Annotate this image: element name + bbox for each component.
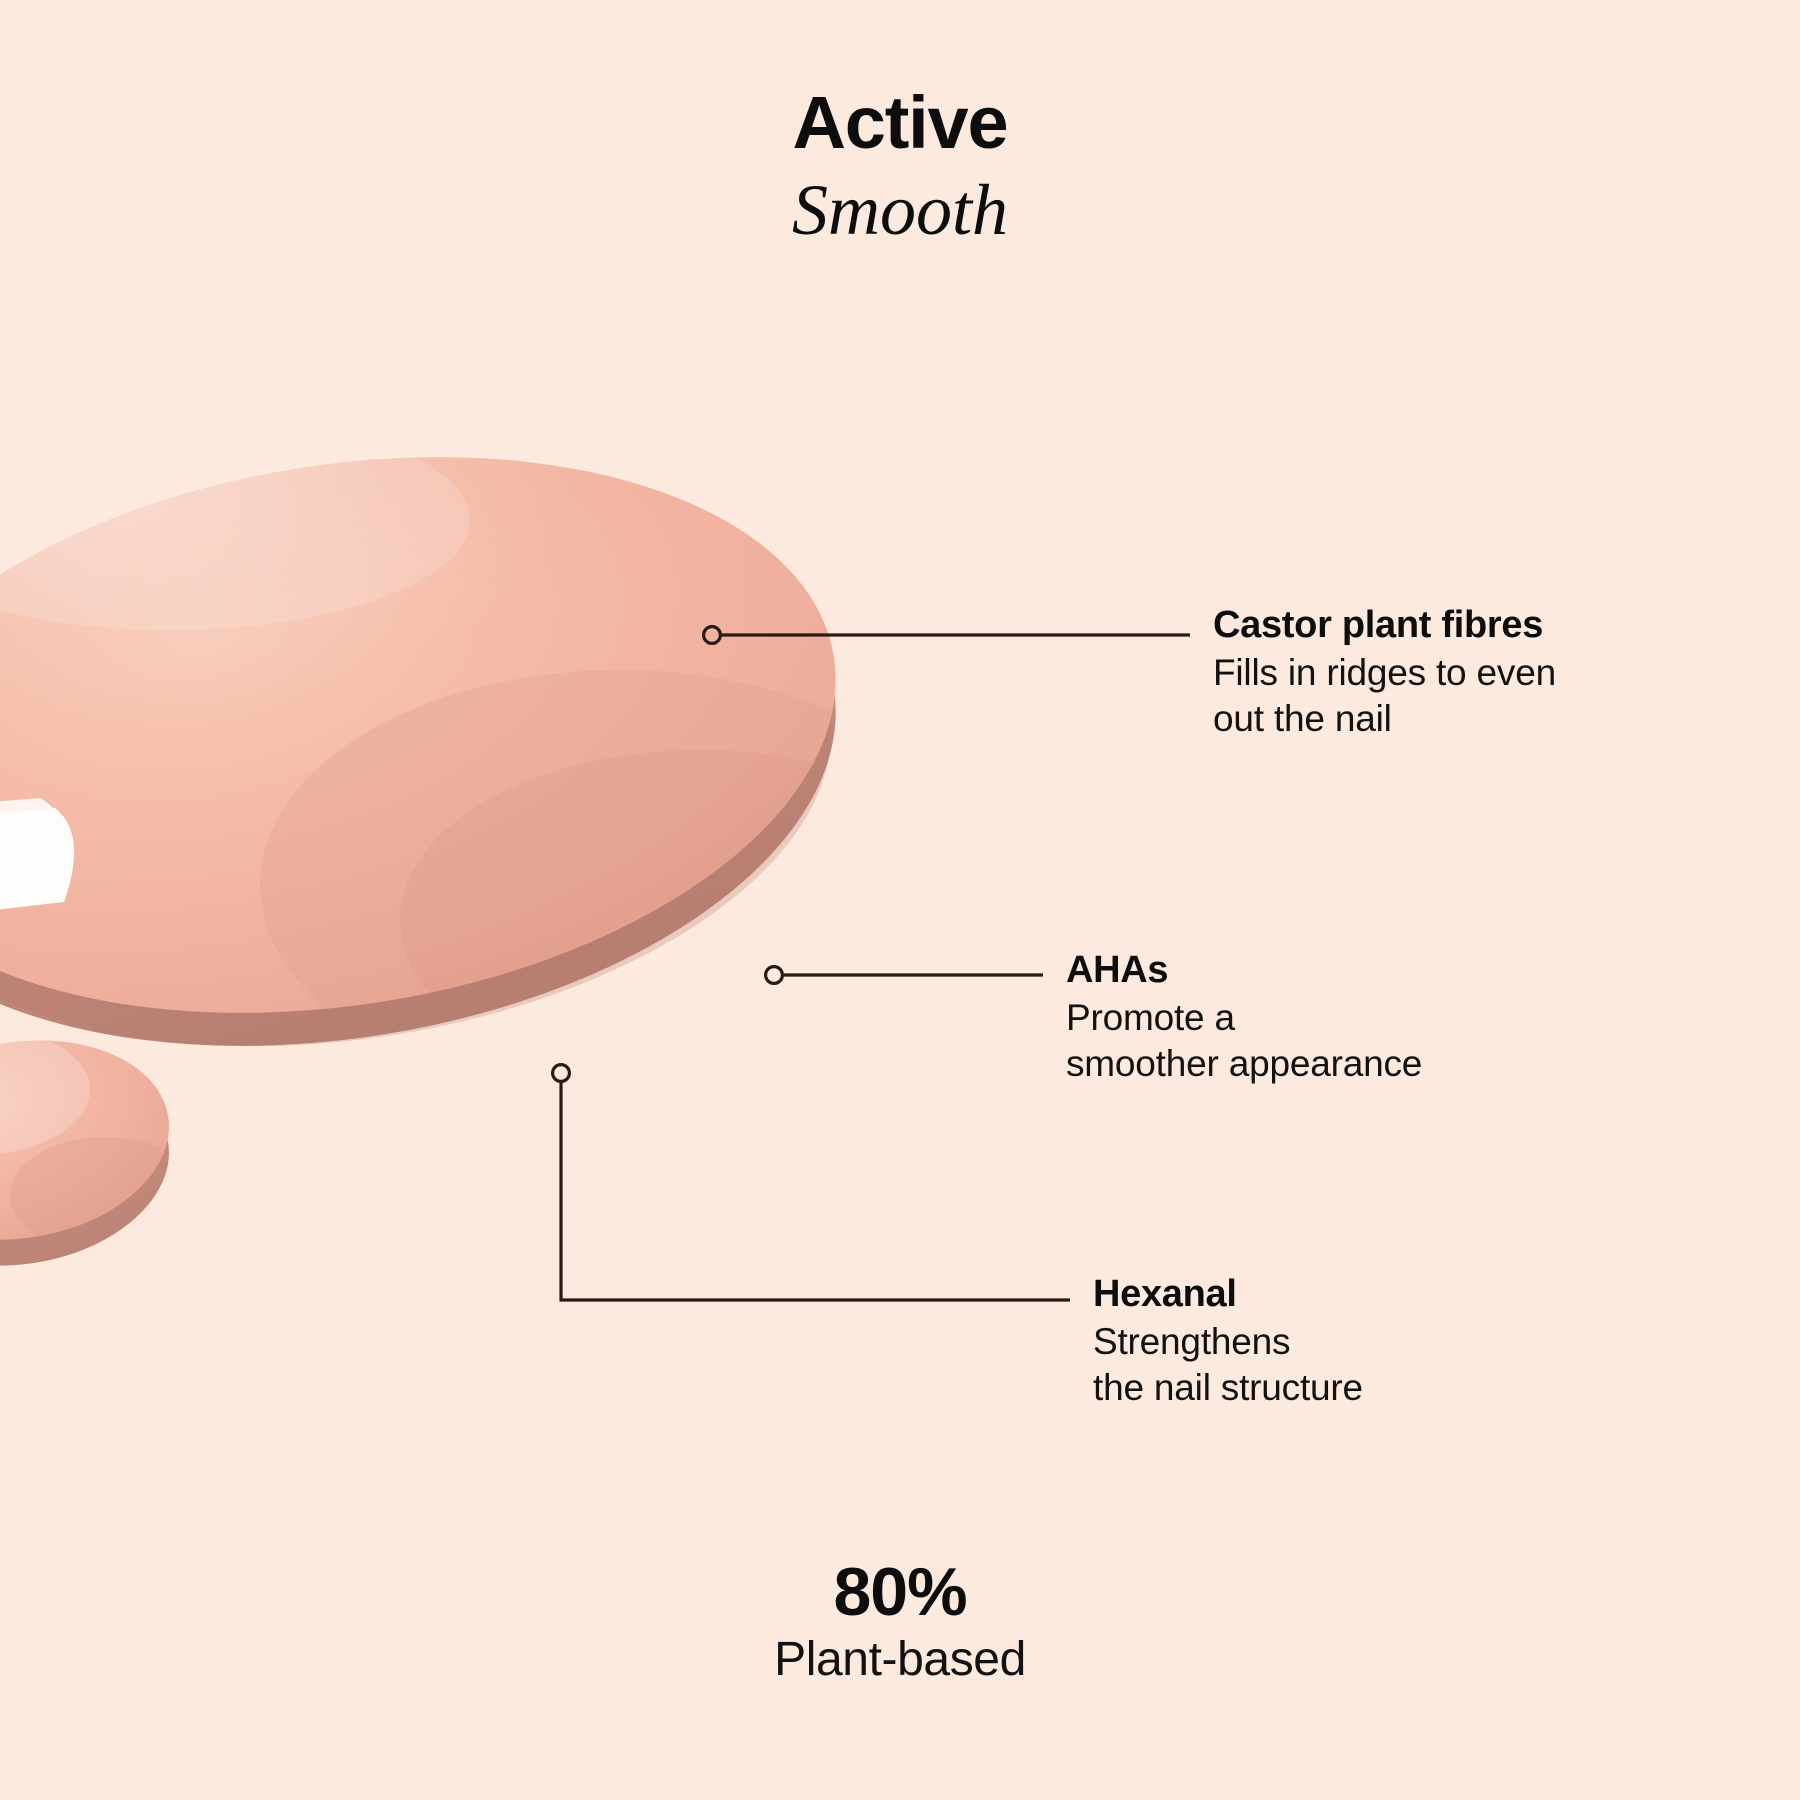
leader-marker-ahas bbox=[766, 967, 783, 984]
callout-hexanal: Hexanal Strengthens the nail structure bbox=[1093, 1272, 1363, 1412]
leader-lines bbox=[0, 0, 1800, 1800]
leader-marker-hexanal bbox=[553, 1065, 570, 1082]
plant-based-percentage: 80% bbox=[0, 1558, 1800, 1627]
callout-title-castor-plant-fibres: Castor plant fibres bbox=[1213, 603, 1556, 648]
infographic-canvas: Active Smooth Castor plant fibres Fills … bbox=[0, 0, 1800, 1800]
footer: 80% Plant-based bbox=[0, 1558, 1800, 1689]
callout-title-ahas: AHAs bbox=[1066, 948, 1422, 993]
callout-body-castor-plant-fibres: Fills in ridges to even out the nail bbox=[1213, 650, 1556, 743]
callout-castor-plant-fibres: Castor plant fibres Fills in ridges to e… bbox=[1213, 603, 1556, 743]
page-subtitle: Smooth bbox=[0, 168, 1800, 253]
page-title: Active bbox=[0, 86, 1800, 160]
callout-body-ahas: Promote a smoother appearance bbox=[1066, 995, 1422, 1088]
callout-ahas: AHAs Promote a smoother appearance bbox=[1066, 948, 1422, 1088]
leader-line-ahas bbox=[766, 967, 1043, 984]
leader-line-castor-plant-fibres bbox=[704, 627, 1190, 644]
leader-marker-castor-plant-fibres bbox=[704, 627, 721, 644]
header: Active Smooth bbox=[0, 86, 1800, 253]
callout-title-hexanal: Hexanal bbox=[1093, 1272, 1363, 1317]
plant-based-label: Plant-based bbox=[0, 1631, 1800, 1689]
leader-line-hexanal bbox=[553, 1065, 1070, 1300]
callout-body-hexanal: Strengthens the nail structure bbox=[1093, 1319, 1363, 1412]
